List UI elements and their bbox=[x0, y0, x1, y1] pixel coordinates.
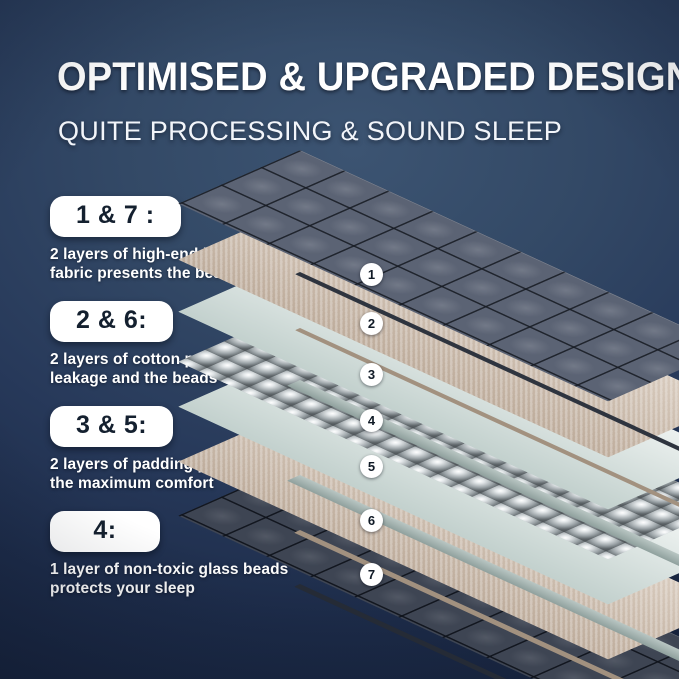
callout-label-2: 2 & 6: bbox=[50, 301, 173, 342]
layer-badge-3: 3 bbox=[360, 363, 383, 386]
infographic-canvas: OPTIMISED & UPGRADED DESIGN QUITE PROCES… bbox=[0, 0, 679, 679]
layer-stack-diagram: 1 2 3 4 5 6 7 bbox=[300, 150, 679, 620]
layer-badge-6: 6 bbox=[360, 509, 383, 532]
callout-label-1: 1 & 7 : bbox=[50, 196, 181, 237]
layer-badge-5: 5 bbox=[360, 455, 383, 478]
layer-badge-1: 1 bbox=[360, 263, 383, 286]
callout-label-3: 3 & 5: bbox=[50, 406, 173, 447]
layer-badge-4: 4 bbox=[360, 409, 383, 432]
layer-badge-2: 2 bbox=[360, 312, 383, 335]
callout-label-4: 4: bbox=[50, 511, 160, 552]
page-title: OPTIMISED & UPGRADED DESIGN bbox=[57, 55, 627, 99]
diagram-layer-1 bbox=[300, 150, 679, 300]
layer-badge-7: 7 bbox=[360, 563, 383, 586]
page-subtitle: QUITE PROCESSING & SOUND SLEEP bbox=[58, 115, 658, 147]
